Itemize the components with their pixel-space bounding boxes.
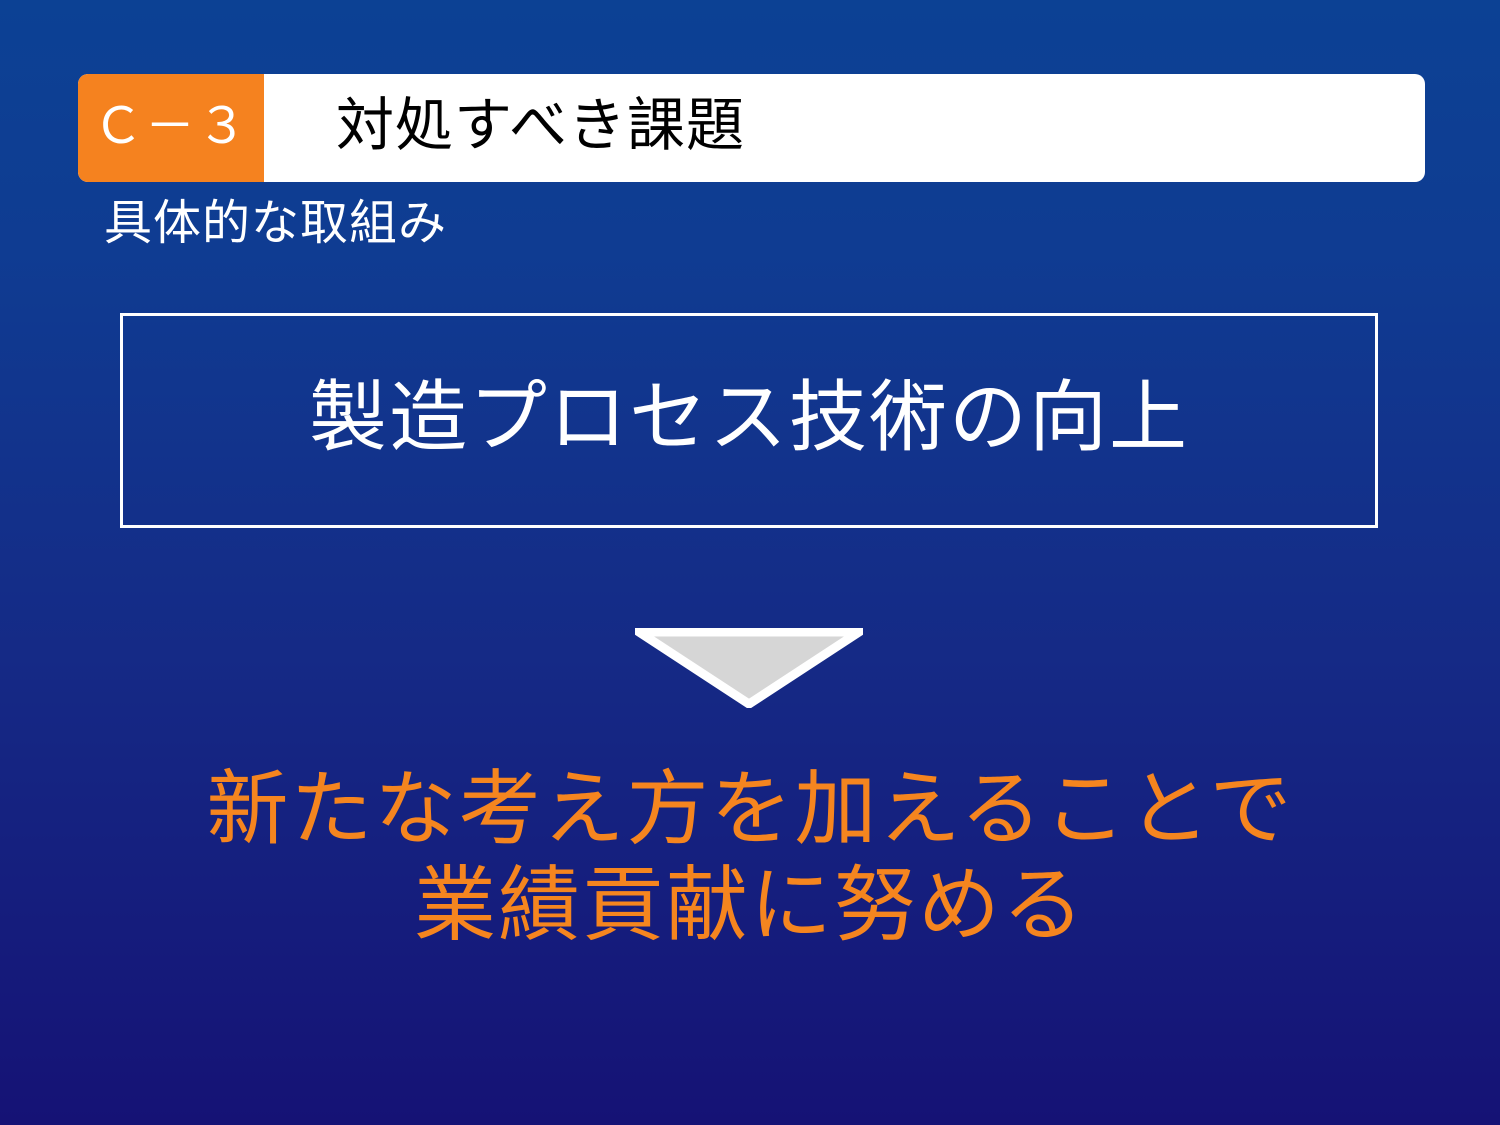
conclusion-text: 新たな考え方を加えることで 業績貢献に努める [0, 762, 1500, 954]
conclusion-line-1: 新たな考え方を加えることで [0, 762, 1500, 858]
statement-text: 製造プロセス技術の向上 [309, 375, 1189, 467]
slide-header-bar: Ｃ－３ 対処すべき課題 [78, 74, 1425, 182]
page-title: 対処すべき課題 [264, 74, 1425, 182]
triangle-down-icon [635, 628, 863, 708]
statement-box: 製造プロセス技術の向上 [120, 313, 1378, 528]
section-code-badge: Ｃ－３ [78, 74, 264, 182]
subtitle-label: 具体的な取組み [104, 198, 447, 251]
slide-canvas: Ｃ－３ 対処すべき課題 具体的な取組み 製造プロセス技術の向上 新たな考え方を加… [0, 0, 1500, 1125]
conclusion-line-2: 業績貢献に努める [0, 858, 1500, 954]
